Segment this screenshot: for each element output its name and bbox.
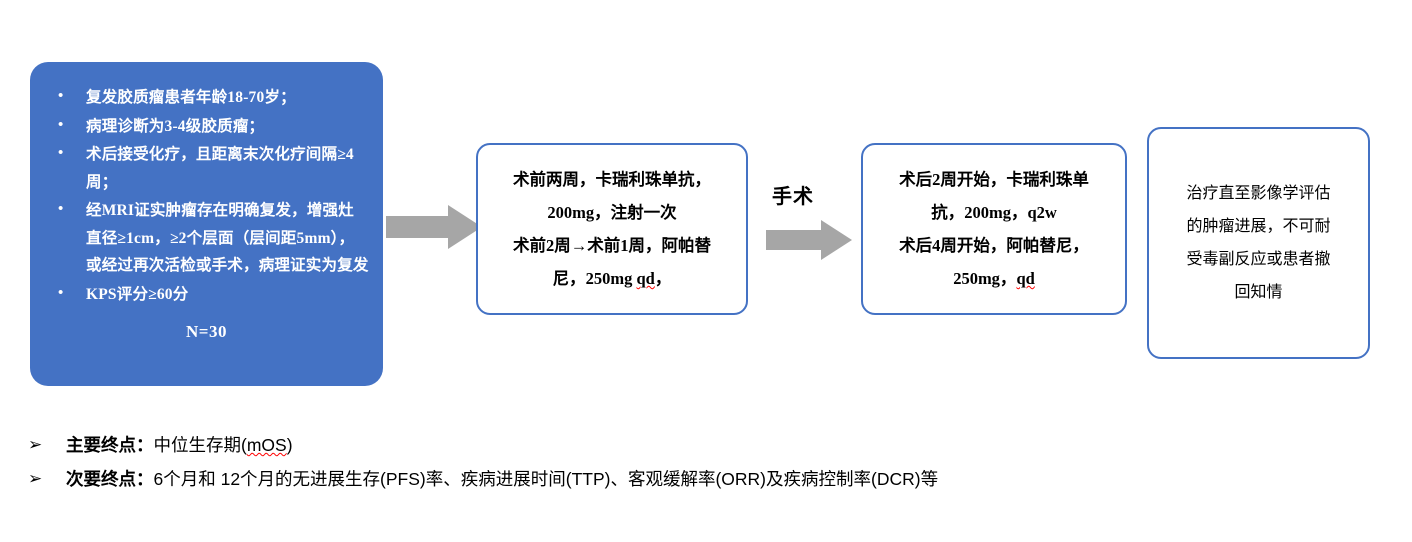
tx-line: 术后2周开始，卡瑞利珠单 bbox=[899, 163, 1089, 196]
endpoints-section: ➢ 主要终点：中位生存期(mOS) ➢ 次要终点：6个月和 12个月的无进展生存… bbox=[0, 428, 1412, 496]
tx-line: 250mg，qd bbox=[899, 262, 1089, 295]
sample-size-label: N=30 bbox=[44, 322, 369, 342]
inclusion-criteria-box: 复发胶质瘤患者年龄18-70岁； 病理诊断为3-4级胶质瘤； 术后接受化疗，且距… bbox=[30, 62, 383, 386]
primary-endpoint-label: 主要终点： bbox=[66, 435, 154, 455]
tx-line: 术前2周→术前1周，阿帕替 bbox=[513, 229, 711, 262]
arrow-right-icon bbox=[766, 220, 852, 265]
secondary-endpoint-value: 6个月和 12个月的无进展生存(PFS)率、疾病进展时间(TTP)、客观缓解率(… bbox=[154, 469, 939, 489]
spellcheck-word: qd bbox=[637, 269, 655, 288]
tx-line: 尼，250mg qd， bbox=[513, 262, 711, 295]
criteria-item: 复发胶质瘤患者年龄18-70岁； bbox=[44, 84, 369, 112]
treatment-until-progression-text: 治疗直至影像学评估 的肿瘤进展，不可耐 受毒副反应或患者撤 回知情 bbox=[1174, 177, 1342, 309]
spellcheck-word: mOS bbox=[247, 435, 287, 455]
surgery-step-label: 手术 bbox=[772, 180, 814, 209]
arrow-right-icon bbox=[386, 205, 482, 254]
criteria-item: 病理诊断为3-4级胶质瘤； bbox=[44, 113, 369, 141]
preoperative-treatment-text: 术前两周，卡瑞利珠单抗， 200mg，注射一次 术前2周→术前1周，阿帕替 尼，… bbox=[501, 163, 723, 295]
spellcheck-word: qd bbox=[1016, 269, 1034, 288]
criteria-item: 术后接受化疗，且距离末次化疗间隔≥4周； bbox=[44, 141, 369, 196]
preoperative-treatment-box: 术前两周，卡瑞利珠单抗， 200mg，注射一次 术前2周→术前1周，阿帕替 尼，… bbox=[476, 143, 748, 315]
tx-line: 的肿瘤进展，不可耐 bbox=[1186, 210, 1330, 243]
postoperative-treatment-box: 术后2周开始，卡瑞利珠单 抗，200mg，q2w 术后4周开始，阿帕替尼， 25… bbox=[861, 143, 1127, 315]
tx-line: 治疗直至影像学评估 bbox=[1186, 177, 1330, 210]
primary-endpoint-value-pre: 中位生存期( bbox=[154, 435, 247, 455]
tx-line: 术后4周开始，阿帕替尼， bbox=[899, 229, 1089, 262]
tx-line: 受毒副反应或患者撤 bbox=[1186, 243, 1330, 276]
primary-endpoint-row: ➢ 主要终点：中位生存期(mOS) bbox=[0, 428, 1412, 462]
secondary-endpoint-row: ➢ 次要终点：6个月和 12个月的无进展生存(PFS)率、疾病进展时间(TTP)… bbox=[0, 462, 1412, 496]
postoperative-treatment-text: 术后2周开始，卡瑞利珠单 抗，200mg，q2w 术后4周开始，阿帕替尼， 25… bbox=[887, 163, 1101, 295]
inclusion-criteria-list: 复发胶质瘤患者年龄18-70岁； 病理诊断为3-4级胶质瘤； 术后接受化疗，且距… bbox=[44, 84, 369, 308]
trial-flow-diagram: 复发胶质瘤患者年龄18-70岁； 病理诊断为3-4级胶质瘤； 术后接受化疗，且距… bbox=[0, 0, 1412, 410]
treatment-until-progression-box: 治疗直至影像学评估 的肿瘤进展，不可耐 受毒副反应或患者撤 回知情 bbox=[1147, 127, 1370, 359]
tx-line: 术前两周，卡瑞利珠单抗， bbox=[513, 163, 711, 196]
primary-endpoint-value-post: ) bbox=[287, 435, 293, 455]
criteria-item: KPS评分≥60分 bbox=[44, 281, 369, 309]
tx-line: 200mg，注射一次 bbox=[513, 196, 711, 229]
secondary-endpoint-label: 次要终点： bbox=[66, 469, 154, 489]
tx-line: 回知情 bbox=[1186, 276, 1330, 309]
criteria-item: 经MRI证实肿瘤存在明确复发，增强灶直径≥1cm，≥2个层面（层间距5mm），或… bbox=[44, 197, 369, 280]
arrowhead-bullet-icon: ➢ bbox=[28, 428, 42, 462]
arrowhead-bullet-icon: ➢ bbox=[28, 462, 42, 496]
tx-line: 抗，200mg，q2w bbox=[899, 196, 1089, 229]
